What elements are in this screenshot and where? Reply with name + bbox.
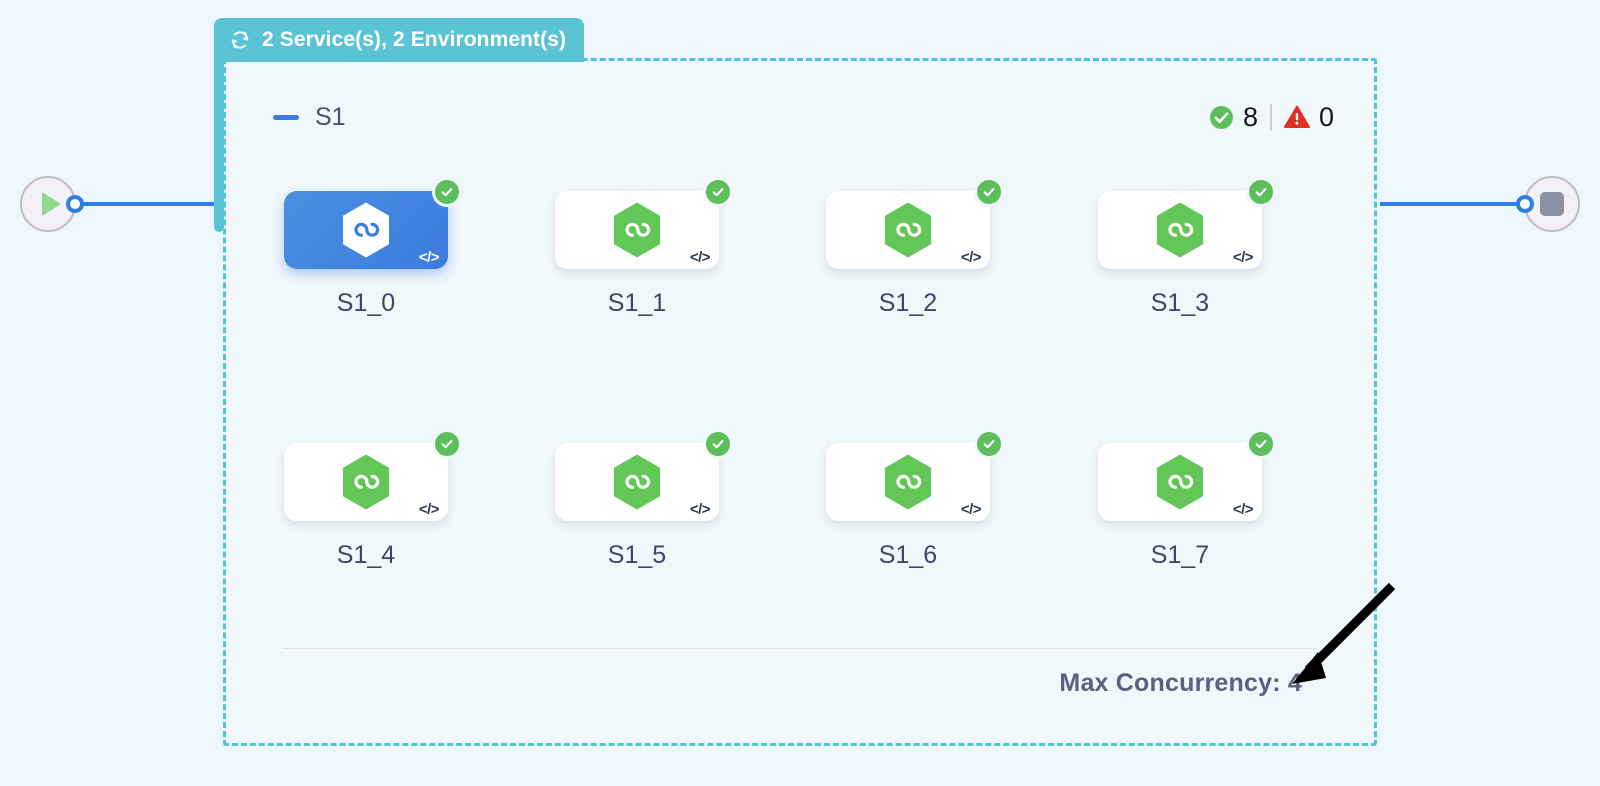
task-row: </> S1_4 </> S1_5: [226, 443, 1374, 603]
code-icon: </>: [1233, 249, 1253, 266]
loop-tab-label: 2 Service(s), 2 Environment(s): [262, 28, 566, 52]
code-icon: </>: [961, 501, 981, 518]
service-hex-icon: [610, 201, 664, 259]
status-badge-success: 8: [1209, 102, 1258, 133]
loop-header-tab[interactable]: 2 Service(s), 2 Environment(s): [214, 18, 584, 62]
loop-spine: [214, 56, 224, 232]
code-icon: </>: [690, 249, 710, 266]
footer-divider: [282, 648, 1318, 649]
check-circle-icon: [1246, 429, 1276, 459]
connector-wire-right: [1380, 202, 1517, 206]
task-cell: </> S1_1: [549, 191, 725, 318]
code-icon: </>: [419, 501, 439, 518]
task-label: S1_4: [337, 541, 395, 570]
task-card-s1-6[interactable]: </>: [826, 443, 990, 521]
task-cell: </> S1_6: [820, 443, 996, 570]
check-circle-icon: [974, 177, 1004, 207]
task-card-s1-3[interactable]: </>: [1098, 191, 1262, 269]
code-icon: </>: [419, 249, 439, 266]
code-icon: </>: [961, 249, 981, 266]
check-circle-icon: [703, 429, 733, 459]
task-cell: </> S1_0: [278, 191, 454, 318]
warning-triangle-icon: [1284, 105, 1310, 129]
service-hex-icon: [1153, 453, 1207, 511]
task-label: S1_3: [1151, 289, 1209, 318]
check-circle-icon: [1246, 177, 1276, 207]
task-card-s1-7[interactable]: </>: [1098, 443, 1262, 521]
status-badge-error: 0: [1284, 102, 1334, 133]
task-card-s1-0[interactable]: </>: [284, 191, 448, 269]
service-hex-icon: [881, 453, 935, 511]
check-circle-icon: [703, 177, 733, 207]
end-node-input-port[interactable]: [1516, 195, 1534, 213]
task-cell: </> S1_5: [549, 443, 725, 570]
task-cell: </> S1_4: [278, 443, 454, 570]
service-hex-icon: [881, 201, 935, 259]
minus-icon[interactable]: [273, 115, 299, 120]
play-icon: [42, 192, 61, 216]
workflow-canvas: 2 Service(s), 2 Environment(s) S1 8: [0, 0, 1600, 786]
loop-repeat-icon: [228, 28, 252, 52]
service-hex-icon: [610, 453, 664, 511]
task-label: S1_7: [1151, 541, 1209, 570]
check-circle-icon: [1209, 105, 1234, 130]
stop-icon: [1540, 192, 1564, 216]
status-divider: [1270, 104, 1272, 131]
task-label: S1_0: [337, 289, 395, 318]
connector-wire-left: [82, 202, 224, 206]
group-header: S1 8 0: [273, 97, 1334, 137]
task-cell: </> S1_2: [820, 191, 996, 318]
loop-body: S1 8 0: [223, 58, 1377, 746]
task-row: </> S1_0 </> S1_1: [226, 191, 1374, 351]
task-label: S1_1: [608, 289, 666, 318]
task-card-s1-2[interactable]: </>: [826, 191, 990, 269]
task-card-s1-5[interactable]: </>: [555, 443, 719, 521]
check-circle-icon: [432, 177, 462, 207]
start-node-output-port[interactable]: [66, 195, 84, 213]
code-icon: </>: [1233, 501, 1253, 518]
service-hex-icon: [339, 201, 393, 259]
task-cell: </> S1_7: [1092, 443, 1268, 570]
task-card-s1-1[interactable]: </>: [555, 191, 719, 269]
code-icon: </>: [690, 501, 710, 518]
check-circle-icon: [974, 429, 1004, 459]
status-cluster: 8 0: [1209, 102, 1334, 133]
max-concurrency-label: Max Concurrency: 4: [1059, 669, 1302, 698]
task-label: S1_5: [608, 541, 666, 570]
success-count: 8: [1243, 102, 1258, 133]
service-hex-icon: [339, 453, 393, 511]
task-cell: </> S1_3: [1092, 191, 1268, 318]
error-count: 0: [1319, 102, 1334, 133]
page-title: S1: [315, 103, 346, 132]
task-card-s1-4[interactable]: </>: [284, 443, 448, 521]
task-label: S1_6: [879, 541, 937, 570]
check-circle-icon: [432, 429, 462, 459]
service-hex-icon: [1153, 201, 1207, 259]
task-label: S1_2: [879, 289, 937, 318]
